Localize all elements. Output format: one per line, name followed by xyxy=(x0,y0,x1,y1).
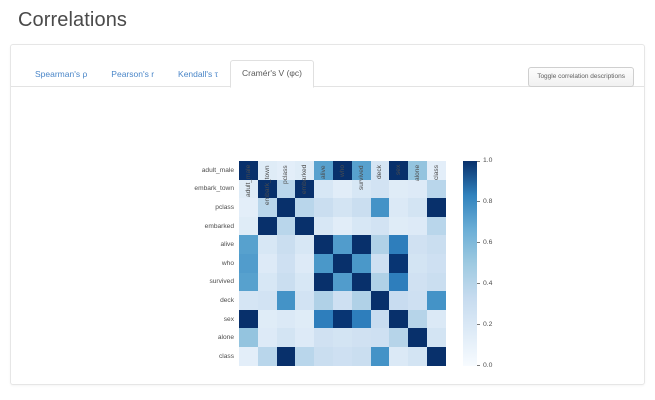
heatmap-cell xyxy=(352,291,371,310)
heatmap-x-label: embark_town xyxy=(264,165,271,221)
correlations-card: Spearman's ρPearson's rKendall's τCramér… xyxy=(10,44,645,385)
heatmap-cell xyxy=(352,254,371,273)
heatmap-y-label: embarked xyxy=(119,217,239,236)
heatmap-y-axis-labels: adult_maleembark_townpclassembarkedalive… xyxy=(119,161,239,366)
heatmap-y-label: alone xyxy=(119,328,239,347)
colorbar-tick-mark xyxy=(477,201,480,202)
heatmap-cell xyxy=(352,310,371,329)
heatmap-cell xyxy=(295,273,314,292)
heatmap-x-label: class xyxy=(433,165,440,221)
tab-cramers[interactable]: Cramér's V (φc) xyxy=(230,60,314,88)
heatmap-cell xyxy=(277,273,296,292)
heatmap-cell xyxy=(239,310,258,329)
tab-spearman[interactable]: Spearman's ρ xyxy=(23,61,99,88)
heatmap-cell xyxy=(333,254,352,273)
colorbar-tick-label: 0.8 xyxy=(483,198,492,206)
heatmap-cell xyxy=(277,291,296,310)
colorbar-gradient xyxy=(463,161,477,366)
heatmap-cell xyxy=(352,273,371,292)
heatmap-cell xyxy=(427,254,446,273)
heatmap-cell xyxy=(314,347,333,366)
tab-pearson[interactable]: Pearson's r xyxy=(99,61,166,88)
heatmap-x-axis-labels: adult_maleembark_townpclassembarkedalive… xyxy=(239,161,446,221)
heatmap-cell xyxy=(258,273,277,292)
heatmap-x-label: sex xyxy=(395,165,402,221)
heatmap-cell xyxy=(427,235,446,254)
heatmap-cell xyxy=(389,328,408,347)
heatmap-cell xyxy=(314,254,333,273)
heatmap-cell xyxy=(295,347,314,366)
heatmap-cell xyxy=(239,347,258,366)
heatmap-y-label: deck xyxy=(119,291,239,310)
colorbar-tick: 1.0 xyxy=(477,157,492,165)
heatmap-cell xyxy=(295,291,314,310)
page-title: Correlations xyxy=(18,6,127,34)
heatmap-cell xyxy=(239,273,258,292)
colorbar-ticks: 0.00.20.40.60.81.0 xyxy=(477,161,509,366)
correlations-page: Correlations Spearman's ρPearson's rKend… xyxy=(0,0,655,400)
colorbar-tick-label: 1.0 xyxy=(483,157,492,165)
heatmap-y-label: alive xyxy=(119,235,239,254)
heatmap-x-label: embarked xyxy=(301,165,308,221)
heatmap-y-label: survived xyxy=(119,273,239,292)
heatmap-cell xyxy=(408,328,427,347)
heatmap-cell xyxy=(239,235,258,254)
heatmap-cell xyxy=(277,328,296,347)
heatmap-cell xyxy=(295,235,314,254)
colorbar-tick: 0.4 xyxy=(477,280,492,288)
heatmap-y-label: pclass xyxy=(119,198,239,217)
heatmap-cell xyxy=(333,291,352,310)
heatmap-cell xyxy=(427,291,446,310)
heatmap-cell xyxy=(333,328,352,347)
heatmap-cell xyxy=(371,291,390,310)
heatmap-cell xyxy=(295,328,314,347)
heatmap-cell xyxy=(371,347,390,366)
heatmap-cell xyxy=(239,328,258,347)
heatmap-cell xyxy=(314,310,333,329)
heatmap-cell xyxy=(314,291,333,310)
heatmap-cell xyxy=(277,310,296,329)
correlation-heatmap-plot: adult_maleembark_townpclassembarkedalive… xyxy=(11,87,644,385)
heatmap-cell xyxy=(295,254,314,273)
colorbar-container: 0.00.20.40.60.81.0 xyxy=(463,161,509,366)
heatmap-cell xyxy=(277,235,296,254)
heatmap-cell xyxy=(352,347,371,366)
heatmap-cell xyxy=(408,235,427,254)
heatmap-cell xyxy=(277,254,296,273)
heatmap-cell xyxy=(352,235,371,254)
heatmap-cell xyxy=(389,254,408,273)
heatmap-x-label: survived xyxy=(358,165,365,221)
tab-bar: Spearman's ρPearson's rKendall's τCramér… xyxy=(11,55,644,87)
heatmap-cell xyxy=(258,310,277,329)
heatmap-cell xyxy=(408,273,427,292)
heatmap-cell xyxy=(333,235,352,254)
heatmap-cell xyxy=(239,291,258,310)
heatmap-cell xyxy=(427,310,446,329)
colorbar-tick: 0.6 xyxy=(477,239,492,247)
heatmap-cell xyxy=(295,310,314,329)
heatmap-cell xyxy=(314,273,333,292)
heatmap-cell xyxy=(408,291,427,310)
colorbar-tick-mark xyxy=(477,324,480,325)
colorbar-tick: 0.2 xyxy=(477,321,492,329)
heatmap-cell xyxy=(408,347,427,366)
heatmap-x-label: adult_male xyxy=(245,165,252,221)
colorbar-tick: 0.0 xyxy=(477,362,492,370)
heatmap-x-label: who xyxy=(339,165,346,221)
heatmap-x-label: alone xyxy=(414,165,421,221)
heatmap-cell xyxy=(408,254,427,273)
colorbar-tick-mark xyxy=(477,161,480,162)
heatmap-y-label: class xyxy=(119,347,239,366)
heatmap-cell xyxy=(258,291,277,310)
heatmap-cell xyxy=(333,347,352,366)
heatmap-cell xyxy=(371,254,390,273)
heatmap-cell xyxy=(371,273,390,292)
tab-kendall[interactable]: Kendall's τ xyxy=(166,61,230,88)
heatmap-x-label: deck xyxy=(376,165,383,221)
colorbar-tick: 0.8 xyxy=(477,198,492,206)
heatmap-y-label: who xyxy=(119,254,239,273)
heatmap-cell xyxy=(389,347,408,366)
heatmap-y-label: embark_town xyxy=(119,180,239,199)
heatmap-cell xyxy=(371,235,390,254)
heatmap-cell xyxy=(427,347,446,366)
heatmap-x-label: alive xyxy=(320,165,327,221)
heatmap-cell xyxy=(389,291,408,310)
colorbar-tick-mark xyxy=(477,365,480,366)
colorbar-tick-label: 0.2 xyxy=(483,321,492,329)
heatmap-cell xyxy=(389,273,408,292)
heatmap-cell xyxy=(371,328,390,347)
heatmap-cell xyxy=(333,273,352,292)
heatmap-cell xyxy=(277,347,296,366)
colorbar-tick-mark xyxy=(477,283,480,284)
heatmap-y-label: adult_male xyxy=(119,161,239,180)
heatmap-cell xyxy=(427,328,446,347)
heatmap-x-label: pclass xyxy=(282,165,289,221)
heatmap-y-label: sex xyxy=(119,310,239,329)
heatmap-cell xyxy=(389,235,408,254)
heatmap-cell xyxy=(352,328,371,347)
heatmap-cell xyxy=(258,347,277,366)
heatmap-cell xyxy=(258,235,277,254)
colorbar-tick-label: 0.4 xyxy=(483,280,492,288)
colorbar-tick-label: 0.0 xyxy=(483,362,492,370)
colorbar-tick-label: 0.6 xyxy=(483,239,492,247)
tab-list: Spearman's ρPearson's rKendall's τCramér… xyxy=(23,55,314,87)
heatmap-cell xyxy=(314,328,333,347)
heatmap-cell xyxy=(333,310,352,329)
heatmap-cell xyxy=(389,310,408,329)
heatmap-cell xyxy=(427,273,446,292)
heatmap-cell xyxy=(371,310,390,329)
heatmap-cell xyxy=(258,254,277,273)
colorbar-tick-mark xyxy=(477,242,480,243)
heatmap-cell xyxy=(314,235,333,254)
heatmap-cell xyxy=(239,254,258,273)
heatmap-cell xyxy=(258,328,277,347)
toggle-correlation-descriptions-button[interactable]: Toggle correlation descriptions xyxy=(528,67,634,87)
heatmap-cell xyxy=(408,310,427,329)
